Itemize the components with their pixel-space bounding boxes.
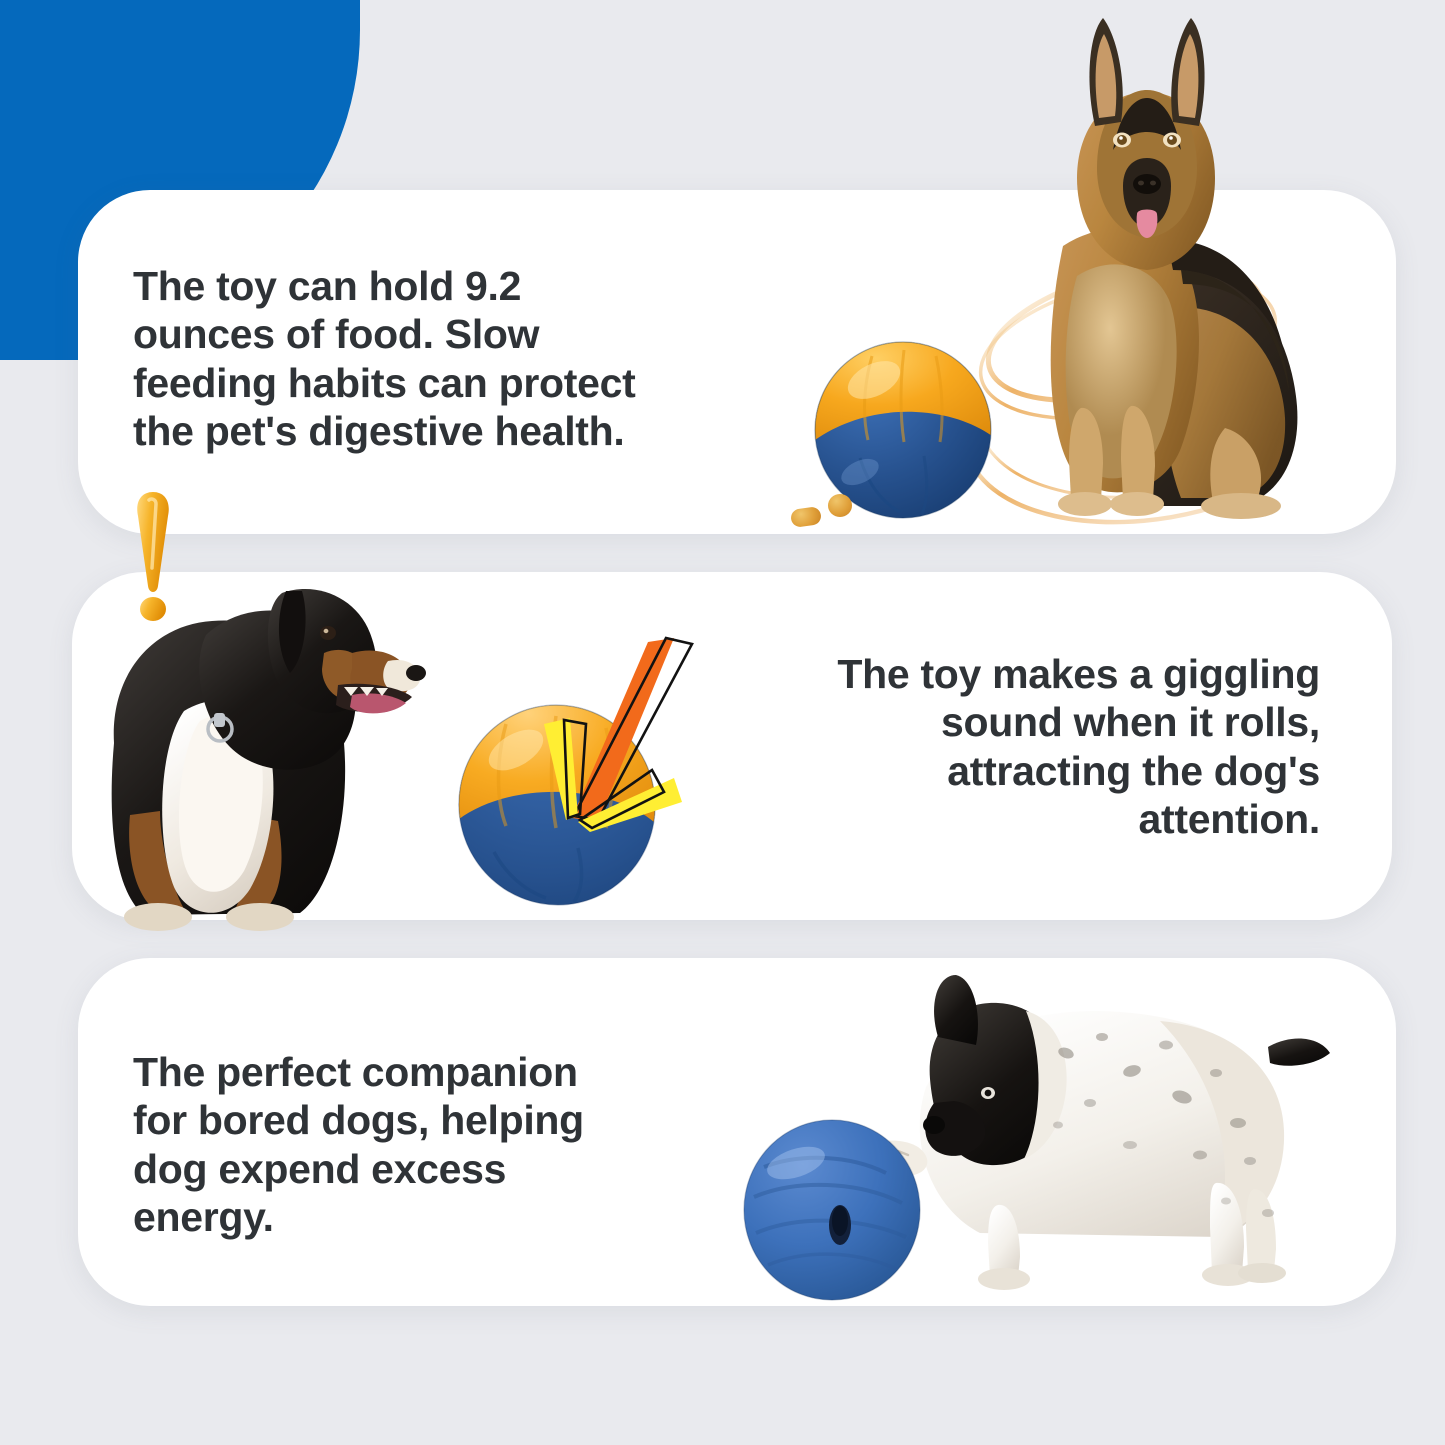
infographic-page: The toy can hold 9.2 ounces of food. Slo… <box>0 0 1445 1445</box>
feature-text-capacity: The toy can hold 9.2 ounces of food. Slo… <box>133 262 733 456</box>
exclamation-mark-icon <box>125 490 181 625</box>
german-shepherd-photo <box>985 8 1315 538</box>
treat-ball-blue-top-with-hole <box>740 1115 925 1305</box>
kibble-piece <box>828 494 852 517</box>
treat-ball-with-sound-rays <box>452 620 722 920</box>
feature-text-giggle-sound: The toy makes a giggling sound when it r… <box>720 650 1320 844</box>
feature-text-energy: The perfect companion for bored dogs, he… <box>133 1048 693 1242</box>
